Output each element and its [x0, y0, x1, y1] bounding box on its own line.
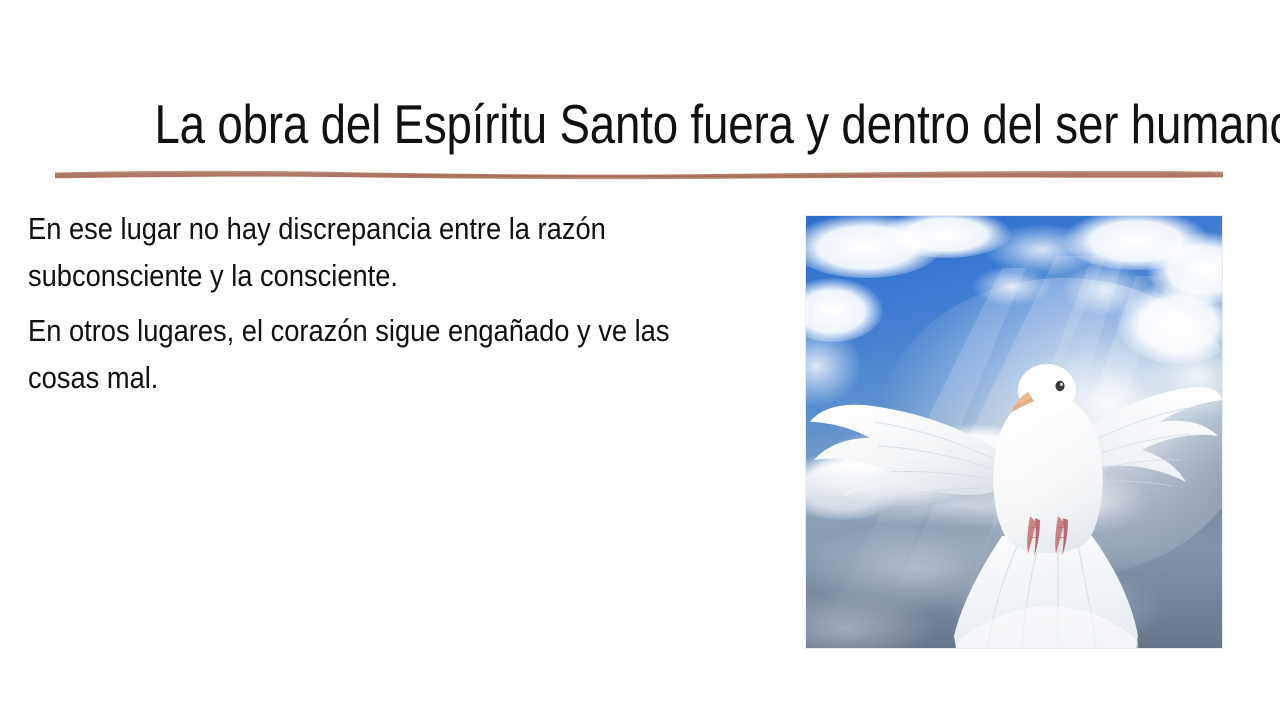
title-underline-brushstroke [53, 163, 1225, 183]
body-paragraph-2: En otros lugares, el corazón sigue engañ… [28, 307, 679, 401]
slide-canvas: La obra del Espíritu Santo fuera y dentr… [0, 0, 1280, 720]
title-placeholder: La obra del Espíritu Santo fuera y dentr… [55, 92, 1225, 162]
body-paragraph-1: En ese lugar no hay discrepancia entre l… [28, 205, 679, 299]
body-placeholder: En ese lugar no hay discrepancia entre l… [28, 205, 768, 409]
dove-photo: Paloma blanca volando entre nubes y rayo… [806, 216, 1222, 648]
page-title: La obra del Espíritu Santo fuera y dentr… [154, 92, 1125, 156]
